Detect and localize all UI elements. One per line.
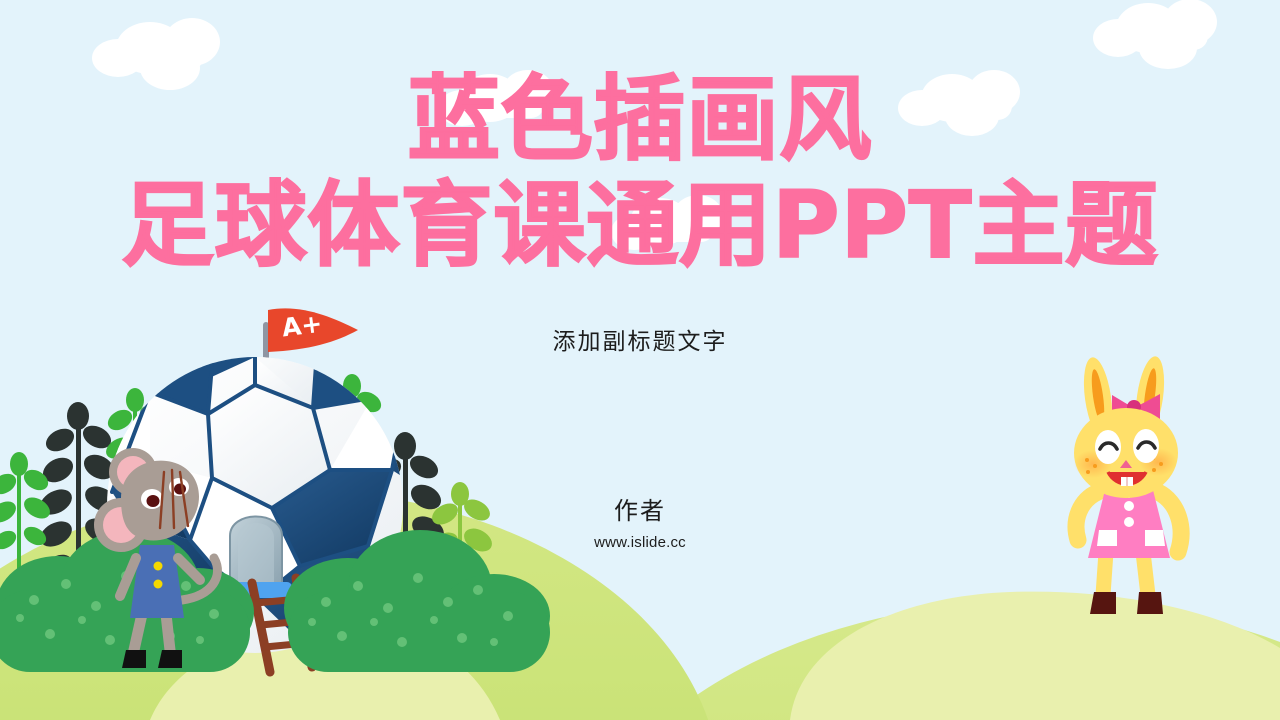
subtitle-text: 添加副标题文字 <box>0 322 1280 356</box>
mouse-button-bottom <box>154 580 163 589</box>
rabbit-leg-right <box>1143 552 1148 595</box>
author-website: www.islide.cc <box>0 534 1280 551</box>
slide-canvas: A+ <box>0 0 1280 720</box>
mouse-boot-left <box>122 650 146 668</box>
mouse-leg-right <box>166 614 170 650</box>
rabbit-leg-left <box>1103 552 1106 595</box>
scenery-illustration: A+ <box>0 0 1280 720</box>
author-name: 作者 <box>0 491 1280 526</box>
mouse-boot-right <box>158 650 182 668</box>
rabbit-boot-right <box>1137 592 1163 614</box>
rabbit-boot-left <box>1090 592 1116 614</box>
mouse-leg-left <box>134 614 142 650</box>
mouse-button-top <box>154 562 163 571</box>
author-block: 作者 www.islide.cc <box>0 491 1280 551</box>
